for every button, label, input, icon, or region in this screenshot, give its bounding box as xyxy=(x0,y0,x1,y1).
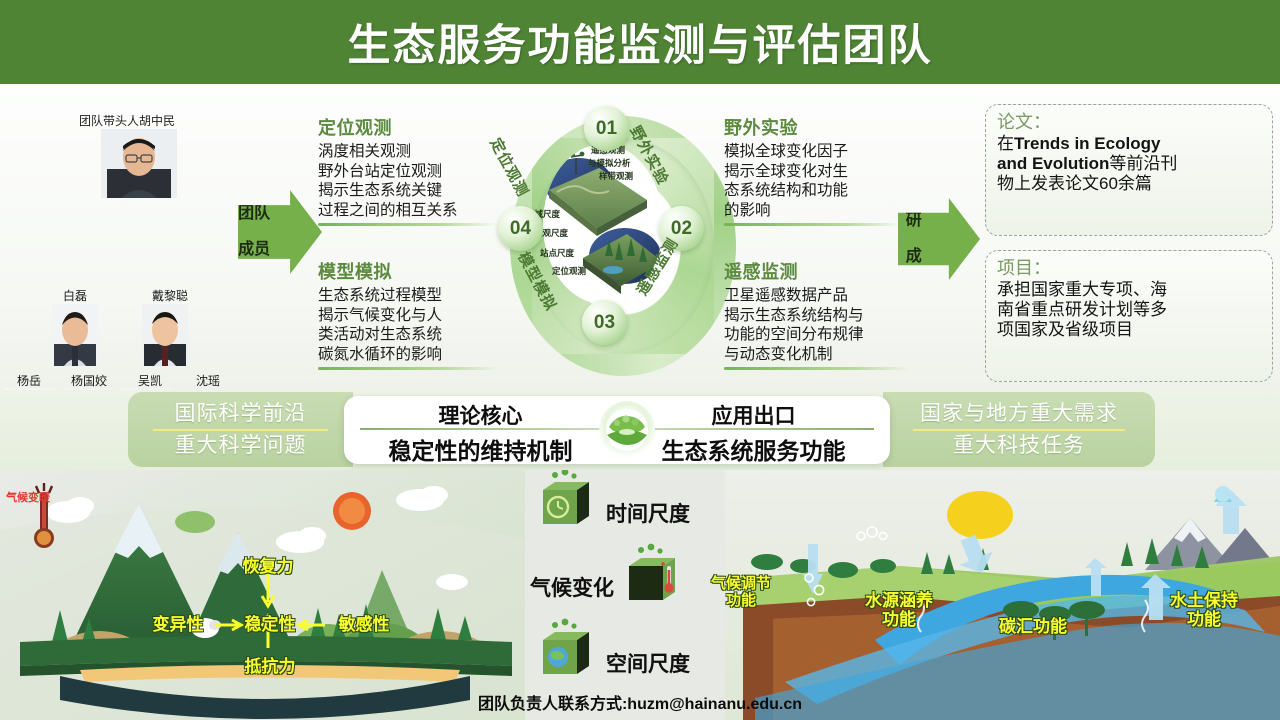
text-block-model-simulation: 模型模拟 生态系统过程模型 揭示气候变化与人 类活动对生态系统 碳氮水循环的影响 xyxy=(318,258,498,370)
projects-body: 承担国家重大专项、海 南省重点研发计划等多 项国家及省级项目 xyxy=(997,280,1261,341)
panel-right-divider xyxy=(913,429,1125,431)
projects-line1: 承担国家重大专项、海 xyxy=(997,280,1261,300)
block-underline xyxy=(724,367,910,370)
papers-line2-suffix: 等前沿刊 xyxy=(1109,154,1177,173)
papers-line1-prefix: 在 xyxy=(997,134,1014,153)
block-line: 功能的空间分布规律 xyxy=(724,325,910,345)
block-line: 碳氮水循环的影响 xyxy=(318,345,498,365)
label-time-scale: 时间尺度 xyxy=(606,498,690,528)
label-stability: 稳定性 xyxy=(232,616,308,635)
cycle-inner-label-2: 样带观测 xyxy=(599,170,633,182)
arrow-team-members-line1: 团队 xyxy=(238,205,270,223)
mountain-stability-scene xyxy=(0,470,530,720)
avatar-member-0 xyxy=(52,304,98,366)
label-soil-water-line1: 水土保持 xyxy=(1170,591,1238,610)
footer-contact: 团队负责人联系方式:huzm@hainanu.edu.cn xyxy=(0,690,1280,714)
projects-line3: 项国家及省级项目 xyxy=(997,320,1261,340)
core-ecosystem-service-label: 生态系统服务功能 xyxy=(617,432,890,466)
label-water-conservation-line1: 水源涵养 xyxy=(865,591,933,610)
leader-portrait-icon xyxy=(101,129,177,198)
block-line: 揭示生态系统关键 xyxy=(318,181,498,201)
text-block-positioning-observation: 定位观测 涡度相关观测 野外台站定位观测 揭示生态系统关键 过程之间的相互关系 xyxy=(318,114,498,226)
block-line: 的影响 xyxy=(724,201,902,221)
member-name-2: 杨岳 xyxy=(3,372,55,389)
bottom-illustration: 气候变暖 恢复力 变异性 稳定性 敏感性 抵抗力 xyxy=(0,470,1280,720)
block-underline xyxy=(318,367,498,370)
label-carbon-sink-line1: 碳汇功能 xyxy=(999,617,1067,636)
block-line: 卫星遥感数据产品 xyxy=(724,286,910,306)
block-line: 过程之间的相互关系 xyxy=(318,201,498,221)
label-space-scale: 空间尺度 xyxy=(606,648,690,678)
cycle-node-03[interactable]: 03 xyxy=(582,300,627,345)
block-line: 与动态变化机制 xyxy=(724,345,910,365)
label-variability: 变异性 xyxy=(140,616,216,635)
cycle-inner-label-1: 与模拟分析 xyxy=(588,157,631,169)
slide-canvas: 生态服务功能监测与评估团队 团队带头人胡中民 白磊 戴黎聪 xyxy=(0,0,1280,720)
cycle-node-01[interactable]: 01 xyxy=(584,106,629,151)
team-photo-cluster: 团队带头人胡中民 白磊 戴黎聪 xyxy=(0,84,240,384)
panel-left-line1: 国际科学前沿 xyxy=(175,401,307,427)
block-line: 态系统结构和功能 xyxy=(724,181,902,201)
panel-right-line2: 重大科技任务 xyxy=(953,433,1085,459)
label-resistance: 抵抗力 xyxy=(232,658,308,677)
papers-journal-part1: Trends in Ecology xyxy=(1014,134,1160,153)
block-line: 生态系统过程模型 xyxy=(318,286,498,306)
panel-international-frontier: 国际科学前沿 重大科学问题 xyxy=(128,392,353,467)
member-name-3: 杨国姣 xyxy=(60,372,118,389)
label-climate-warming: 气候变暖 xyxy=(6,492,48,504)
block-line: 野外台站定位观测 xyxy=(318,162,498,182)
block-line: 揭示生态系统结构与 xyxy=(724,306,910,326)
label-climate-regulation-line1: 气候调节 xyxy=(711,575,771,592)
member-name-4: 吴凯 xyxy=(125,372,175,389)
papers-journal-part2: and Evolution xyxy=(997,154,1109,173)
block-heading: 遥感监测 xyxy=(724,258,910,284)
team-leader-label: 团队带头人胡中民 xyxy=(62,112,192,129)
block-line: 类活动对生态系统 xyxy=(318,325,498,345)
leaf-globe-svg xyxy=(599,401,655,459)
text-block-remote-sensing: 遥感监测 卫星遥感数据产品 揭示生态系统结构与 功能的空间分布规律 与动态变化机… xyxy=(724,258,910,370)
leaf-globe-icon xyxy=(599,401,655,459)
result-card-projects: 项目： 承担国家重大专项、海 南省重点研发计划等多 项国家及省级项目 xyxy=(985,250,1273,382)
block-line: 模拟全球变化因子 xyxy=(724,142,902,162)
block-underline xyxy=(318,223,498,226)
member-name-0: 白磊 xyxy=(50,287,100,304)
block-heading: 野外实验 xyxy=(724,114,902,140)
member-portrait-icon xyxy=(52,304,98,366)
panel-left-divider xyxy=(153,429,329,431)
cycle-inner-label-5: 站点尺度 xyxy=(540,247,574,259)
panel-left-line2: 重大科学问题 xyxy=(175,433,307,459)
arrow-team-members-line2: 成员 xyxy=(238,241,270,259)
page-title: 生态服务功能监测与评估团队 xyxy=(0,0,1280,84)
label-carbon-sink: 碳汇功能 xyxy=(985,618,1081,637)
label-water-conservation-line2: 功能 xyxy=(882,610,916,629)
core-theory-label: 理论核心 xyxy=(344,400,617,430)
core-theory-application-card: 理论核心 应用出口 稳定性的维持机制 生态系统服务功能 xyxy=(344,396,890,464)
result-card-papers: 论文： 在Trends in Ecology and Evolution等前沿刊… xyxy=(985,104,1273,236)
title-banner: 生态服务功能监测与评估团队 xyxy=(0,0,1280,84)
block-heading: 模型模拟 xyxy=(318,258,498,284)
label-climate-regulation-line2: 功能 xyxy=(726,592,756,609)
label-soil-water-line2: 功能 xyxy=(1187,610,1221,629)
member-name-5: 沈瑶 xyxy=(182,372,234,389)
research-cycle-diagram: 遥感观测 与模拟分析 样带观测 区域尺度 景观尺度 站点尺度 定位观测 01 0… xyxy=(496,100,706,358)
panel-national-demand: 国家与地方重大需求 重大科技任务 xyxy=(883,392,1155,467)
block-line: 涡度相关观测 xyxy=(318,142,498,162)
block-heading: 定位观测 xyxy=(318,114,498,140)
avatar-member-1 xyxy=(142,304,188,366)
label-resilience: 恢复力 xyxy=(232,558,304,577)
cycle-inner-label-6: 定位观测 xyxy=(552,265,586,277)
core-stability-mechanism-label: 稳定性的维持机制 xyxy=(344,432,617,466)
block-underline xyxy=(724,223,902,226)
member-name-1: 戴黎聪 xyxy=(140,287,200,304)
cycle-node-04[interactable]: 04 xyxy=(498,206,543,251)
projects-line2: 南省重点研发计划等多 xyxy=(997,300,1261,320)
label-climate-regulation: 气候调节 功能 xyxy=(697,576,785,609)
panel-right-line1: 国家与地方重大需求 xyxy=(920,401,1118,427)
avatar-leader xyxy=(101,129,177,198)
block-line: 揭示气候变化与人 xyxy=(318,306,498,326)
label-sensitivity: 敏感性 xyxy=(326,616,402,635)
label-water-conservation: 水源涵养 功能 xyxy=(850,592,948,629)
projects-heading: 项目： xyxy=(997,258,1261,279)
label-climate-change: 气候变化 xyxy=(530,572,614,602)
member-portrait-icon xyxy=(142,304,188,366)
papers-body: 在Trends in Ecology and Evolution等前沿刊 物上发… xyxy=(997,134,1261,195)
core-application-label: 应用出口 xyxy=(617,400,890,430)
papers-heading: 论文： xyxy=(997,112,1261,133)
papers-line3: 物上发表论文60余篇 xyxy=(997,174,1152,193)
text-block-field-experiment: 野外实验 模拟全球变化因子 揭示全球变化对生 态系统结构和功能 的影响 xyxy=(724,114,902,226)
block-line: 揭示全球变化对生 xyxy=(724,162,902,182)
label-soil-water-conservation: 水土保持 功能 xyxy=(1155,592,1253,629)
